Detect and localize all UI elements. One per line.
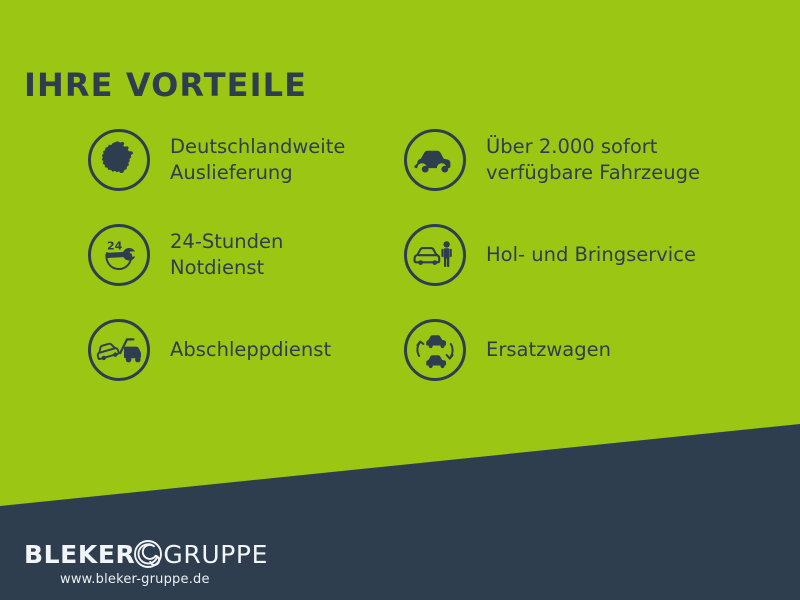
page-title: IHRE VORTEILE bbox=[24, 69, 307, 101]
benefit-row: 24 24-Stunden Notdienst bbox=[88, 213, 788, 308]
logo-bleker-text: BLEKER bbox=[24, 542, 135, 567]
24-hours-wrench-icon: 24 bbox=[88, 224, 150, 286]
benefit-label: Abschleppdienst bbox=[170, 337, 331, 363]
benefit-item-hol-und-bringservice[interactable]: Hol- und Bringservice bbox=[404, 213, 764, 297]
car-with-person-icon bbox=[404, 224, 466, 286]
replacement-car-icon bbox=[404, 319, 466, 381]
benefit-item-ersatzwagen[interactable]: Ersatzwagen bbox=[404, 308, 764, 392]
benefit-label: 24-Stunden Notdienst bbox=[170, 229, 283, 281]
slide-canvas: IHRE VORTEILE Deutschlandweite Ausliefer… bbox=[0, 0, 800, 600]
benefit-item-deutschlandweite-auslieferung[interactable]: Deutschlandweite Auslieferung bbox=[88, 118, 404, 202]
benefits-grid: Deutschlandweite Auslieferung Über 2.000… bbox=[88, 118, 788, 403]
car-icon bbox=[404, 129, 466, 191]
germany-map-icon bbox=[88, 129, 150, 191]
spiral-logo-icon bbox=[133, 539, 163, 569]
footer-logo[interactable]: BLEKER GRUPPE www.bleker-gruppe.de bbox=[24, 540, 268, 586]
badge-24: 24 bbox=[107, 240, 123, 253]
logo-url[interactable]: www.bleker-gruppe.de bbox=[60, 573, 210, 586]
benefit-label: Deutschlandweite Auslieferung bbox=[170, 134, 345, 186]
logo-gruppe-text: GRUPPE bbox=[163, 542, 268, 567]
benefit-label: Ersatzwagen bbox=[486, 337, 611, 363]
benefit-item-abschleppdienst[interactable]: Abschleppdienst bbox=[88, 308, 404, 392]
benefit-label: Über 2.000 sofort verfügbare Fahrzeuge bbox=[486, 134, 700, 186]
benefit-item-24-stunden-notdienst[interactable]: 24 24-Stunden Notdienst bbox=[88, 213, 404, 297]
benefit-row: Deutschlandweite Auslieferung Über 2.000… bbox=[88, 118, 788, 213]
benefit-item-verfuegbare-fahrzeuge[interactable]: Über 2.000 sofort verfügbare Fahrzeuge bbox=[404, 118, 764, 202]
benefit-row: Abschleppdienst bbox=[88, 308, 788, 403]
tow-truck-icon bbox=[88, 319, 150, 381]
benefit-label: Hol- und Bringservice bbox=[486, 242, 696, 268]
logo-wordmark: BLEKER GRUPPE bbox=[24, 540, 268, 568]
